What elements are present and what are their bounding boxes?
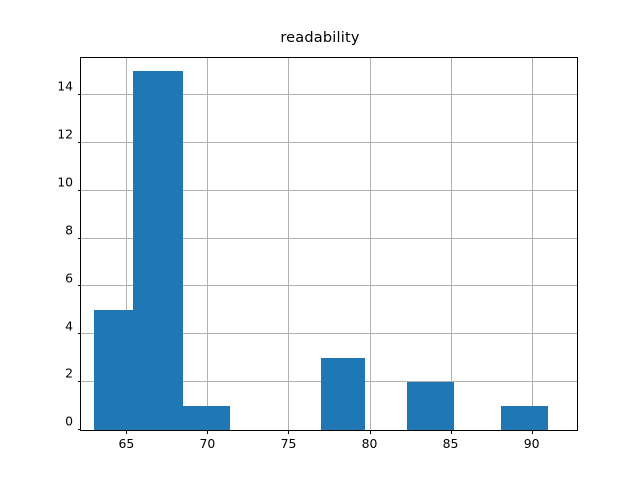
gridline-vertical bbox=[370, 58, 371, 430]
y-axis-tick-label: 4 bbox=[65, 318, 73, 333]
y-axis-tick bbox=[78, 381, 82, 382]
gridline-vertical bbox=[207, 58, 208, 430]
gridline-vertical bbox=[451, 58, 452, 430]
x-axis-tick-label: 85 bbox=[443, 436, 459, 451]
y-axis-tick-label: 8 bbox=[65, 222, 73, 237]
y-axis-tick bbox=[78, 94, 82, 95]
y-axis-tick bbox=[78, 190, 82, 191]
y-axis-tick bbox=[78, 285, 82, 286]
histogram-bar bbox=[183, 406, 230, 430]
x-axis-tick-label: 70 bbox=[200, 436, 216, 451]
x-axis-tick bbox=[126, 430, 127, 434]
histogram-bar bbox=[407, 382, 454, 430]
plot-axes: 02468101214657075808590 bbox=[80, 57, 578, 431]
chart-title: readability bbox=[0, 30, 640, 46]
histogram-bar bbox=[501, 406, 548, 430]
x-axis-tick bbox=[370, 430, 371, 434]
gridline-vertical bbox=[288, 58, 289, 430]
x-axis-tick bbox=[288, 430, 289, 434]
y-axis-tick-label: 10 bbox=[57, 174, 73, 189]
x-axis-tick-label: 65 bbox=[118, 436, 134, 451]
y-axis-tick-label: 14 bbox=[57, 79, 73, 94]
y-axis-tick-label: 0 bbox=[65, 414, 73, 429]
y-axis-tick-label: 6 bbox=[65, 270, 73, 285]
chart-figure: readability 02468101214657075808590 bbox=[0, 0, 640, 480]
x-axis-tick-label: 90 bbox=[524, 436, 540, 451]
y-axis-tick bbox=[78, 333, 82, 334]
x-axis-tick-label: 80 bbox=[362, 436, 378, 451]
plot-area bbox=[81, 58, 577, 430]
x-axis-tick-label: 75 bbox=[281, 436, 297, 451]
y-axis-tick bbox=[78, 238, 82, 239]
x-axis-tick bbox=[207, 430, 208, 434]
y-axis-tick-label: 12 bbox=[57, 127, 73, 142]
y-axis-tick bbox=[78, 429, 82, 430]
x-axis-tick bbox=[451, 430, 452, 434]
histogram-bar bbox=[94, 310, 133, 430]
y-axis-tick-label: 2 bbox=[65, 366, 73, 381]
histogram-bar bbox=[321, 358, 365, 430]
histogram-bar bbox=[133, 71, 183, 430]
x-axis-tick bbox=[532, 430, 533, 434]
y-axis-tick bbox=[78, 142, 82, 143]
gridline-vertical bbox=[532, 58, 533, 430]
